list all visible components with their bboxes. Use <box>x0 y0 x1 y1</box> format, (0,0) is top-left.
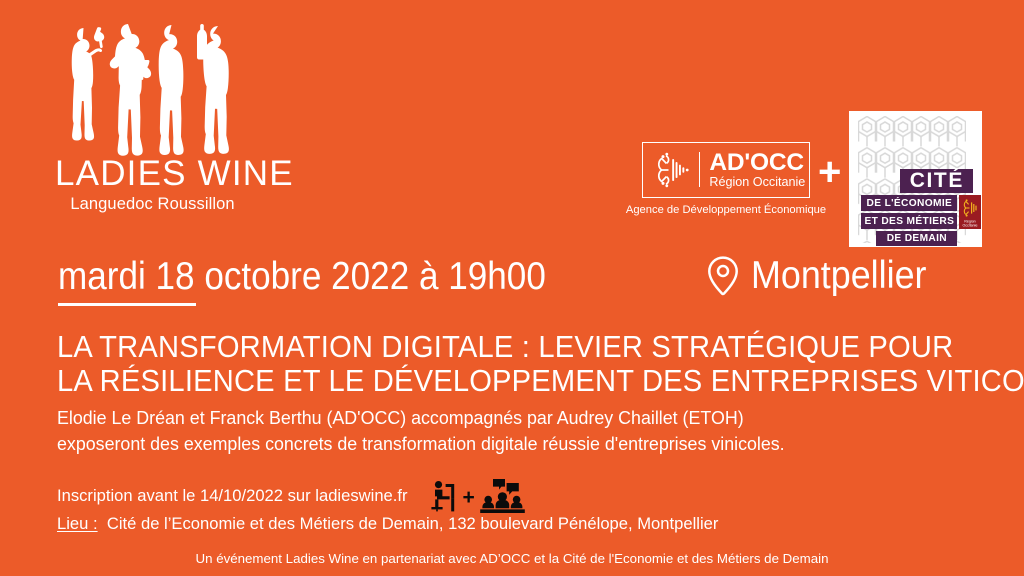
map-pin-icon <box>706 255 740 297</box>
cite-line-economie: DE L'ÉCONOMIE <box>861 195 957 211</box>
venue-row: Lieu : Cité de l’Economie et des Métiers… <box>57 513 718 535</box>
event-location: Montpellier <box>706 253 942 299</box>
title-line-2: LA RÉSILIENCE ET LE DÉVELOPPEMENT DES EN… <box>57 364 964 398</box>
adocc-agency-line: Agence de Développement Économique <box>626 203 826 217</box>
cite-title: CITÉ <box>900 169 973 193</box>
cite-line-metiers: ET DES MÉTIERS <box>861 213 957 229</box>
registration-icons: + <box>429 478 526 514</box>
brand-name: LADIES WINE <box>55 155 250 193</box>
title-line-1: LA TRANSFORMATION DIGITALE : LEVIER STRA… <box>57 330 964 364</box>
partner-logos: AD'OCC Région Occitanie Agence de Dévelo… <box>640 104 992 254</box>
date-location-row: mardi 18 octobre 2022 à 19h00 Montpellie… <box>58 254 968 300</box>
adocc-logo-text: AD'OCC Région Occitanie <box>709 150 805 190</box>
four-women-with-wine-glasses-silhouette-icon <box>55 22 245 157</box>
adocc-region: Région Occitanie <box>709 175 805 190</box>
adocc-name: AD'OCC <box>709 150 805 175</box>
speakers-description: Elodie Le Dréan et Franck Berthu (AD'OCC… <box>57 405 967 457</box>
partners-plus-separator: + <box>818 152 841 192</box>
footer-partnership-note: Un événement Ladies Wine en partenariat … <box>0 550 1024 568</box>
ladies-wine-wordmark: LADIES WINE Languedoc Roussillon <box>55 155 250 214</box>
venue-address: Cité de l’Economie et des Métiers de Dem… <box>107 514 719 533</box>
event-date: mardi 18 octobre 2022 à 19h00 <box>58 254 546 300</box>
event-poster: LADIES WINE Languedoc Roussillon <box>0 0 1024 576</box>
date-underline-rule <box>58 303 196 306</box>
brand-tagline: Languedoc Roussillon <box>55 195 250 214</box>
ladies-wine-logo: LADIES WINE Languedoc Roussillon <box>55 22 255 217</box>
registration-text[interactable]: Inscription avant le 14/10/2022 sur ladi… <box>57 485 408 507</box>
region-occitanie-badge-icon: Région Occitanie <box>959 195 981 229</box>
page-title: LA TRANSFORMATION DIGITALE : LEVIER STRA… <box>57 330 1007 398</box>
icons-plus-separator: + <box>463 487 475 508</box>
speakers-line-2: exposeront des exemples concrets de tran… <box>57 431 944 457</box>
cite-line-demain: DE DEMAIN <box>876 231 957 246</box>
person-at-desk-icon <box>429 480 459 512</box>
speakers-line-1: Elodie Le Dréan et Franck Berthu (AD'OCC… <box>57 405 944 431</box>
location-city-label: Montpellier <box>751 253 927 299</box>
svg-text:Occitanie: Occitanie <box>963 223 978 227</box>
adocc-logo: AD'OCC Région Occitanie Agence de Dévelo… <box>640 142 812 217</box>
cite-economie-logo: CITÉ DE L'ÉCONOMIE ET DES MÉTIERS DE DEM… <box>849 111 982 247</box>
adocc-logo-frame: AD'OCC Région Occitanie <box>642 142 810 198</box>
venue-label: Lieu : <box>57 514 98 533</box>
adocc-logo-divider <box>699 152 700 187</box>
registration-row: Inscription avant le 14/10/2022 sur ladi… <box>57 478 526 514</box>
occitan-cross-soundwave-icon <box>650 152 694 188</box>
group-meeting-discussion-icon <box>479 478 526 514</box>
